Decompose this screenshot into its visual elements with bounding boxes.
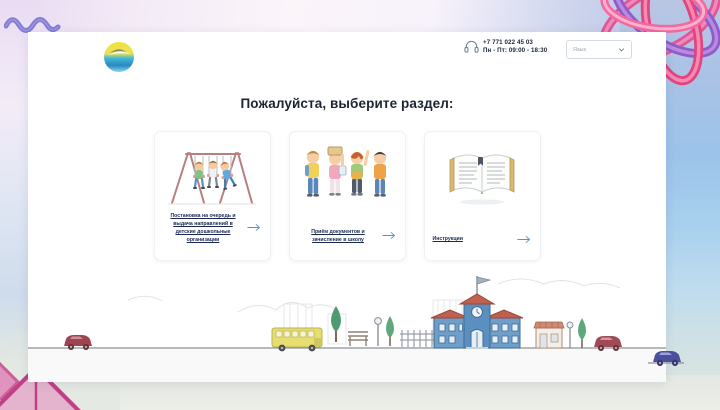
city-street-illustration (28, 270, 666, 382)
tree-small (386, 316, 394, 346)
contact-phone[interactable]: +7 771 022 45 03 (483, 39, 547, 47)
language-select-value: Язык (573, 47, 618, 53)
card-instructions-label[interactable]: Инструкции (433, 235, 517, 243)
card-school-enrollment-label[interactable]: Приём документов и зачисление в школу (298, 228, 382, 244)
portal-page: +7 771 022 45 03 Пн - Пт: 09:00 - 18:30 … (28, 32, 666, 382)
fence (400, 330, 436, 347)
card-school-enrollment[interactable]: Приём документов и зачисление в школу (289, 131, 406, 261)
swing-set-with-children-illustration (164, 138, 260, 216)
card-instructions-footer: Инструкции (425, 235, 540, 244)
shop (534, 322, 564, 348)
blue-car (648, 348, 684, 368)
card-kindergarten-label[interactable]: Постановка на очередь и выдача направлен… (163, 212, 247, 244)
street-lamp (375, 318, 382, 346)
headset-icon (464, 39, 479, 54)
tree-right (578, 318, 586, 348)
page-header: +7 771 022 45 03 Пн - Пт: 09:00 - 18:30 … (28, 32, 666, 80)
chevron-down-icon (618, 46, 625, 53)
page-title: Пожалуйста, выберите раздел: (28, 96, 666, 111)
bench (348, 332, 368, 346)
portal-logo[interactable] (102, 40, 136, 74)
street-lamp-right (567, 322, 573, 348)
section-cards: Постановка на очередь и выдача направлен… (28, 131, 666, 261)
card-kindergarten[interactable]: Постановка на очередь и выдача направлен… (154, 131, 271, 261)
red-car-right (594, 336, 622, 351)
card-instructions[interactable]: Инструкции (424, 131, 541, 261)
contact-info: +7 771 022 45 03 Пн - Пт: 09:00 - 18:30 (464, 39, 547, 55)
arrow-right-icon[interactable] (517, 235, 532, 244)
arrow-right-icon[interactable] (247, 223, 262, 232)
school-building-with-clock-and-flag (431, 276, 523, 349)
arrow-right-icon[interactable] (382, 231, 397, 240)
open-book-illustration (446, 138, 518, 216)
card-school-enrollment-footer: Приём документов и зачисление в школу (290, 228, 405, 244)
contact-hours: Пн - Пт: 09:00 - 18:30 (483, 47, 547, 55)
language-select[interactable]: Язык (566, 40, 632, 59)
card-kindergarten-footer: Постановка на очередь и выдача направлен… (155, 212, 270, 244)
four-schoolchildren-illustration (297, 138, 397, 216)
